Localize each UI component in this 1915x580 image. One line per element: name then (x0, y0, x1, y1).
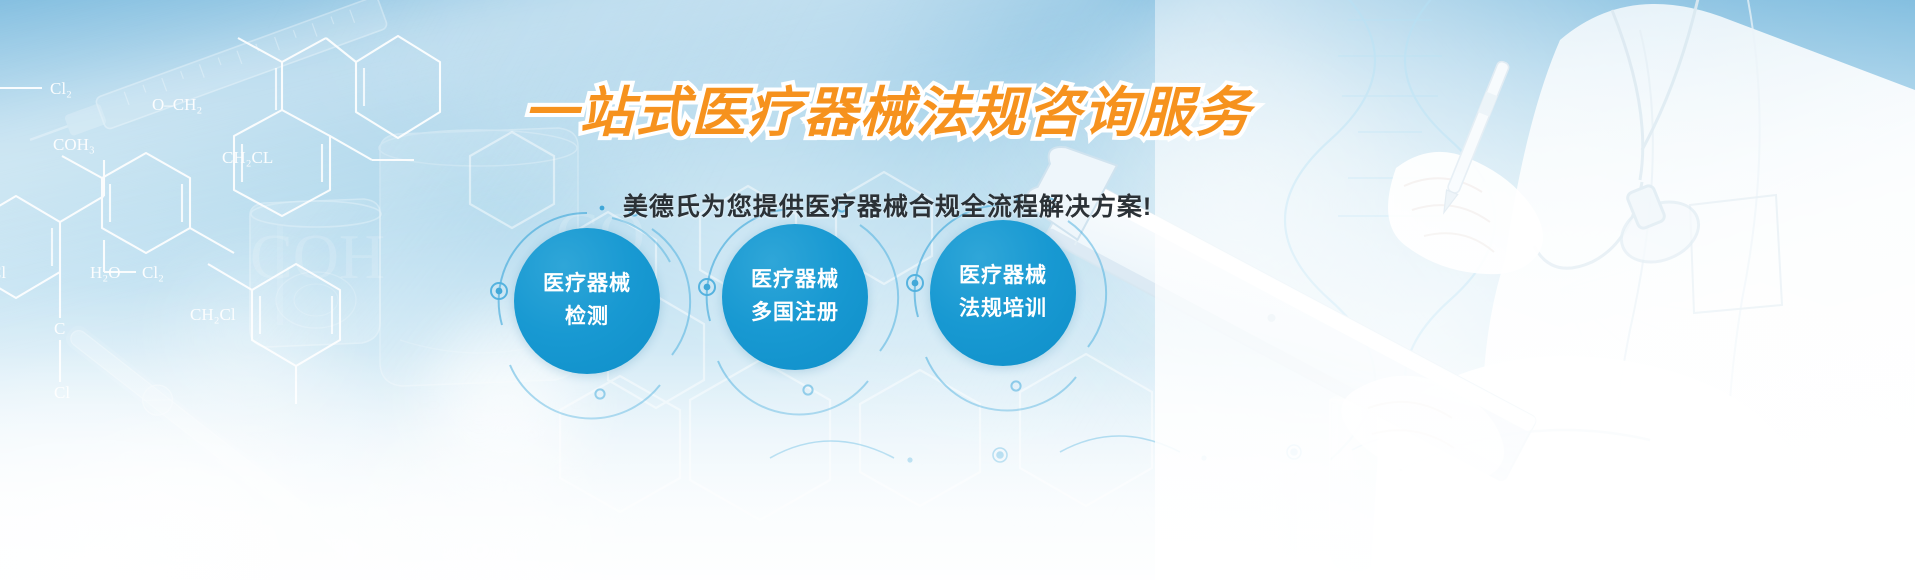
circle-label-line1: 医疗器械 (959, 260, 1047, 293)
circle-label-line1: 医疗器械 (543, 268, 631, 301)
service-circle-training[interactable]: 医疗器械 法规培训 (930, 220, 1076, 366)
hero-banner: Cl₂ COH₃ O–CH₂ CH₂CL H₂O Cl₂ CH₂Cl C Cl … (0, 0, 1915, 580)
circle-label-line1: 医疗器械 (751, 264, 839, 297)
circle-label-line2: 检测 (565, 301, 609, 334)
banner-headline: 一站式医疗器械法规咨询服务 一站式医疗器械法规咨询服务 (524, 86, 1252, 140)
banner-subheadline: 美德氏为您提供医疗器械合规全流程解决方案! (0, 187, 1845, 223)
circle-label-line2: 法规培训 (959, 293, 1047, 326)
headline-container: 一站式医疗器械法规咨询服务 一站式医疗器械法规咨询服务 (0, 86, 1915, 140)
service-circle-testing[interactable]: 医疗器械 检测 (514, 228, 660, 374)
banner-content: 一站式医疗器械法规咨询服务 一站式医疗器械法规咨询服务 美德氏为您提供医疗器械合… (0, 0, 1915, 580)
service-circle-registration[interactable]: 医疗器械 多国注册 (722, 224, 868, 370)
circle-label-line2: 多国注册 (751, 297, 839, 330)
headline-fill-layer: 一站式医疗器械法规咨询服务 (524, 83, 1252, 143)
